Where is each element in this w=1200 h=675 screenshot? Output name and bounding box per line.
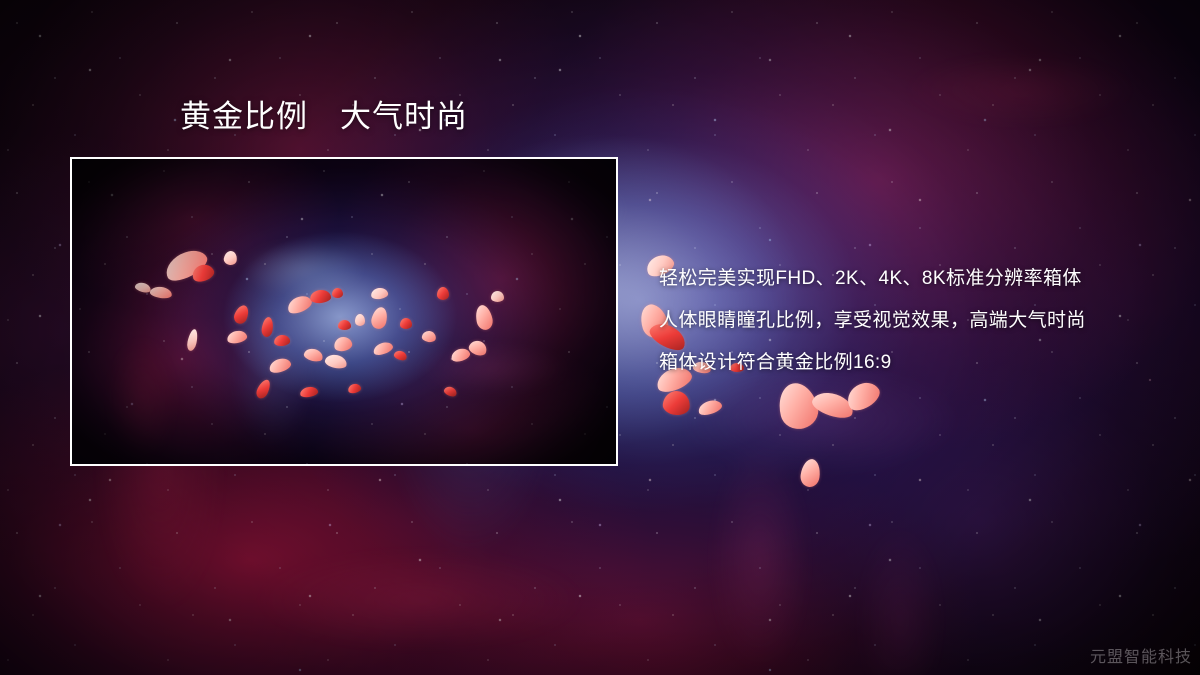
page-title: 黄金比例 大气时尚 — [180, 101, 468, 132]
feature-description: 轻松完美实现FHD、2K、4K、8K标准分辨率箱体 人体眼睛瞳孔比例，享受视觉效… — [659, 258, 1086, 384]
product-photo-frame — [70, 157, 618, 466]
feature-line-3: 箱体设计符合黄金比例16:9 — [659, 342, 1086, 384]
slide-canvas: 黄金比例 大气时尚 轻松完美实现FHD、2K、4K、8K标准分辨率箱体 人体眼睛… — [0, 0, 1200, 675]
photo-vignette — [72, 159, 616, 464]
feature-line-2: 人体眼睛瞳孔比例，享受视觉效果，高端大气时尚 — [659, 300, 1086, 342]
feature-line-1: 轻松完美实现FHD、2K、4K、8K标准分辨率箱体 — [659, 258, 1086, 300]
watermark: 元盟智能科技 — [1090, 643, 1192, 667]
